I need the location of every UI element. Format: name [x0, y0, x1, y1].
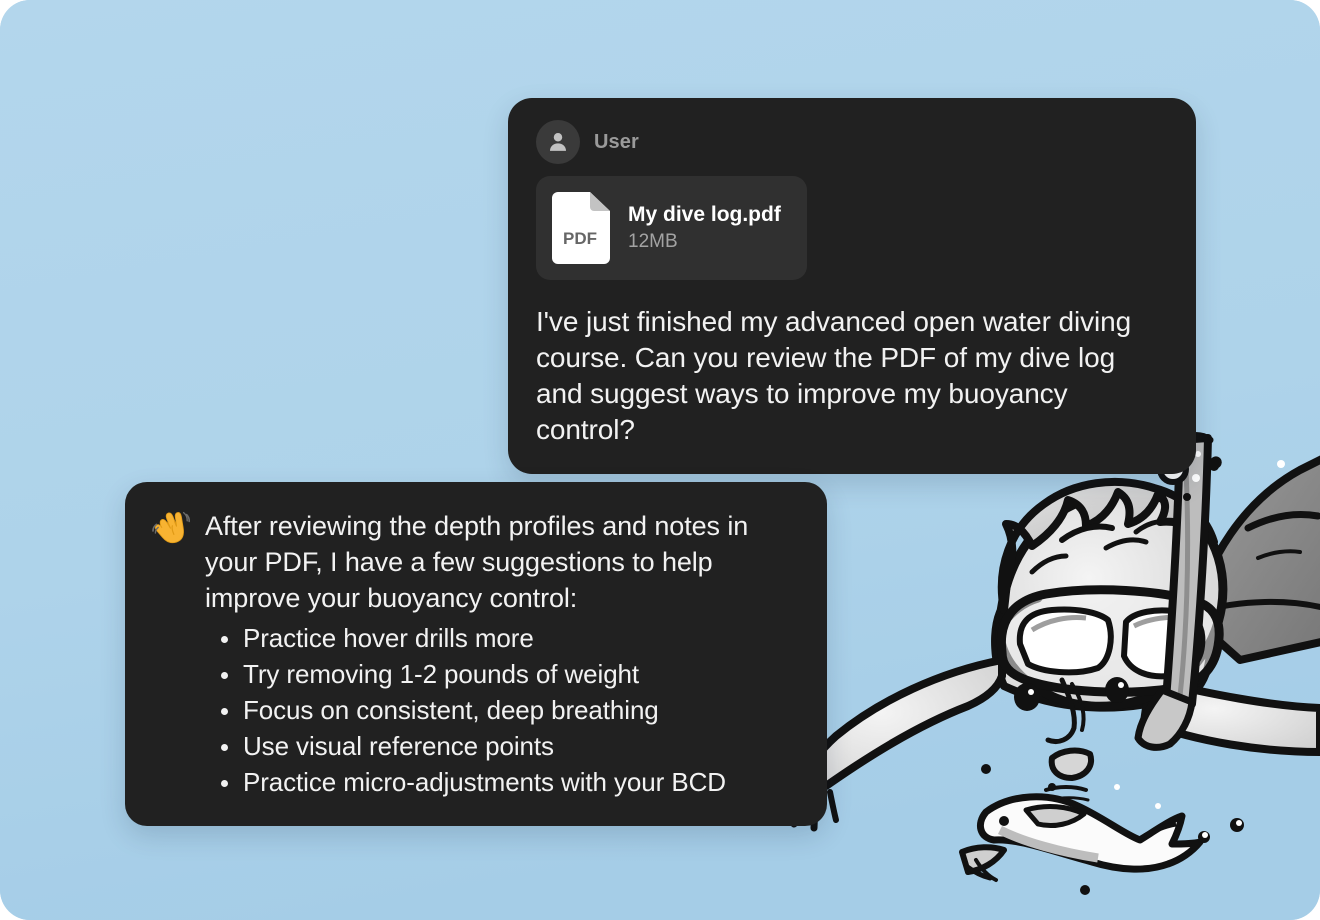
list-item: Practice micro-adjustments with your BCD — [243, 764, 799, 800]
screenshot-canvas: User PDF My dive log.pdf 12MB I've just … — [0, 0, 1320, 920]
assistant-message-bubble: After reviewing the depth profiles and n… — [125, 482, 827, 826]
list-item: Focus on consistent, deep breathing — [243, 692, 799, 728]
svg-text:PDF: PDF — [563, 229, 597, 248]
chat-conversation: User PDF My dive log.pdf 12MB I've just … — [0, 0, 1320, 920]
list-item: Practice hover drills more — [243, 620, 799, 656]
list-item: Try removing 1-2 pounds of weight — [243, 656, 799, 692]
sender-name: User — [594, 131, 639, 154]
message-header: User — [536, 120, 1168, 164]
user-message-bubble: User PDF My dive log.pdf 12MB I've just … — [508, 98, 1196, 474]
waving-hand-emoji — [151, 508, 191, 548]
attachment-file-size: 12MB — [628, 232, 781, 253]
pdf-file-icon: PDF — [552, 192, 610, 264]
attachment-file-name: My dive log.pdf — [628, 203, 781, 226]
person-avatar-icon — [536, 120, 580, 164]
user-message-text: I've just finished my advanced open wate… — [536, 304, 1168, 448]
list-item: Use visual reference points — [243, 728, 799, 764]
suggestion-list: Practice hover drills more Try removing … — [205, 620, 799, 800]
assistant-intro-text: After reviewing the depth profiles and n… — [205, 508, 799, 616]
file-attachment-card[interactable]: PDF My dive log.pdf 12MB — [536, 176, 807, 280]
